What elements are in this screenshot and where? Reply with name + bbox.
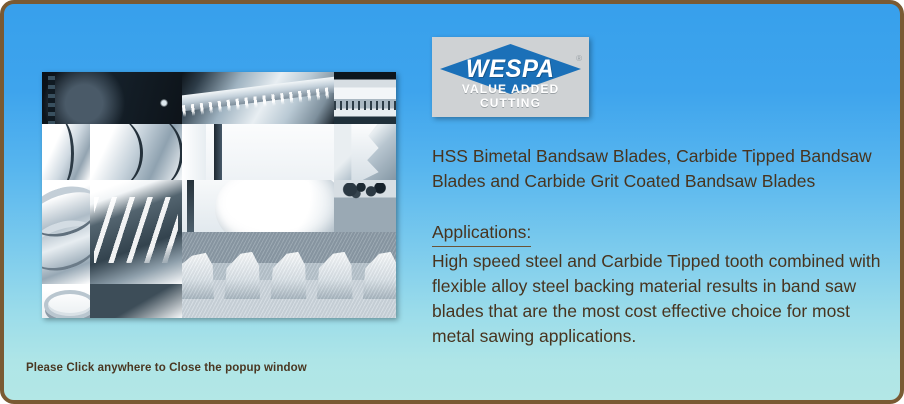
collage-photo-tooth-macro	[182, 232, 396, 318]
collage-photo-sawing-machine	[42, 72, 182, 124]
metal-grain-shape	[182, 232, 396, 318]
collage-photo-blank-panel	[182, 124, 206, 180]
collage-photo-tooth-profile-4	[90, 284, 182, 318]
collage-photo-blade-rings	[42, 284, 90, 318]
close-popup-hint[interactable]: Please Click anywhere to Close the popup…	[26, 362, 307, 374]
product-description: HSS Bimetal Bandsaw Blades, Carbide Tipp…	[432, 144, 894, 349]
collage-photo-blade-coil-top	[334, 72, 396, 124]
logo-tagline: VALUE ADDED CUTTING	[432, 82, 589, 110]
wespa-logo: WESPA ® VALUE ADDED CUTTING	[432, 37, 589, 117]
collage-photo-blade-coil-spiral	[42, 180, 90, 284]
collage-photo-circular-workpiece	[182, 180, 334, 232]
collage-photo-carbide-grit	[334, 180, 396, 232]
product-headline: HSS Bimetal Bandsaw Blades, Carbide Tipp…	[432, 144, 894, 194]
collage-photo-tooth-profile-3	[90, 180, 182, 284]
bandsaw-blade-collage-image	[42, 72, 396, 318]
collage-photo-machine-column	[206, 124, 334, 180]
logo-brand-text: WESPA	[466, 55, 555, 84]
applications-heading: Applications:	[432, 220, 531, 247]
applications-body-text: High speed steel and Carbide Tipped toot…	[432, 249, 894, 349]
coil-teeth-shape	[334, 101, 396, 110]
collage-photo-tooth-closeup-1	[334, 124, 396, 180]
tooth-gullet-shape	[94, 197, 179, 264]
popup-window[interactable]: WESPA ® VALUE ADDED CUTTING HSS Bimetal …	[0, 0, 904, 404]
collage-photo-tooth-profile-2	[90, 124, 182, 180]
collage-photo-tooth-profile-1	[42, 124, 90, 180]
registered-trademark-icon: ®	[576, 54, 582, 63]
collage-photo-long-blade	[182, 72, 334, 124]
